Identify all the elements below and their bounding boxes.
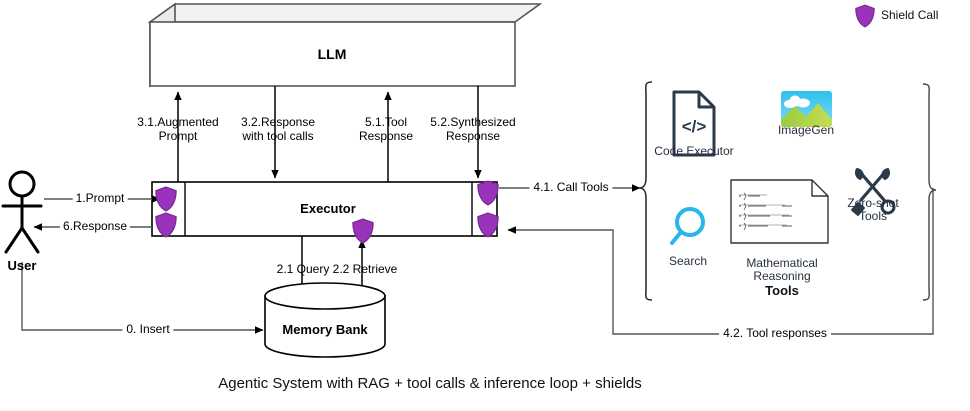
edge-label-synthesized-response-l1: 5.2.Synthesized (430, 115, 515, 129)
edge-label-query: 2.1 Query (277, 262, 330, 276)
edge-label-tool-response-l2: Response (359, 129, 413, 143)
diagram-canvas: </> (0, 0, 970, 411)
magnifier-icon (672, 209, 703, 243)
edge-label-tool-response-l1: 5.1.Tool (359, 115, 413, 129)
tool-label-search: Search (669, 255, 707, 268)
memory-bank-label: Memory Bank (282, 322, 367, 337)
edge-label-augmented-prompt-l2: Prompt (137, 129, 218, 143)
tool-label-mathematical-reasoning: Mathematical Reasoning (746, 257, 817, 283)
shield-icon-exec-memory (353, 219, 373, 243)
edge-label-response-tool-calls: 3.2.Response with tool calls (241, 115, 315, 143)
tools-group-label: Tools (765, 283, 799, 298)
image-picture-icon (781, 91, 832, 127)
edge-label-response-tool-calls-l1: 3.2.Response (241, 115, 315, 129)
edge-label-prompt: 1.Prompt (73, 191, 128, 205)
tool-label-zeroshot-l2: Tools (847, 210, 898, 223)
diagram-caption: Agentic System with RAG + tool calls & i… (218, 375, 642, 392)
executor-label: Executor (300, 201, 356, 216)
user-label: User (8, 258, 37, 273)
llm-node-shape (150, 4, 540, 86)
user-figure-icon (3, 172, 41, 252)
edge-label-retrieve: 2.2 Retrieve (333, 262, 398, 276)
tools-right-brace (923, 84, 936, 300)
tool-label-math-l2: Reasoning (746, 270, 817, 283)
tool-label-zero-shot-tools: Zero-shot Tools (847, 197, 898, 223)
edge-insert (22, 262, 263, 330)
edge-label-tool-response: 5.1.Tool Response (359, 115, 413, 143)
tool-label-imagegen: ImageGen (778, 124, 834, 137)
edge-label-augmented-prompt-l1: 3.1.Augmented (137, 115, 218, 129)
diagram-graphics: </> (0, 0, 970, 411)
shield-icon-legend (856, 5, 874, 27)
edge-label-response-tool-calls-l2: with tool calls (241, 129, 315, 143)
edge-label-call-tools: 4.1. Call Tools (529, 180, 612, 194)
math-document-icon (731, 180, 828, 243)
memory-bank-node-shape (265, 283, 385, 357)
edge-label-insert: 0. Insert (122, 322, 173, 336)
edge-label-synthesized-response-l2: Response (430, 129, 515, 143)
edge-label-augmented-prompt: 3.1.Augmented Prompt (137, 115, 218, 143)
svg-text:</>: </> (682, 117, 707, 136)
edge-label-response: 6.Response (60, 219, 130, 233)
legend-shield-label: Shield Call (881, 8, 938, 22)
edge-label-tool-responses: 4.2. Tool responses (719, 326, 831, 340)
edge-label-synthesized-response: 5.2.Synthesized Response (430, 115, 515, 143)
llm-label: LLM (318, 46, 347, 62)
tool-label-code-executor: Code Executor (654, 145, 733, 158)
tools-left-brace (639, 82, 652, 300)
